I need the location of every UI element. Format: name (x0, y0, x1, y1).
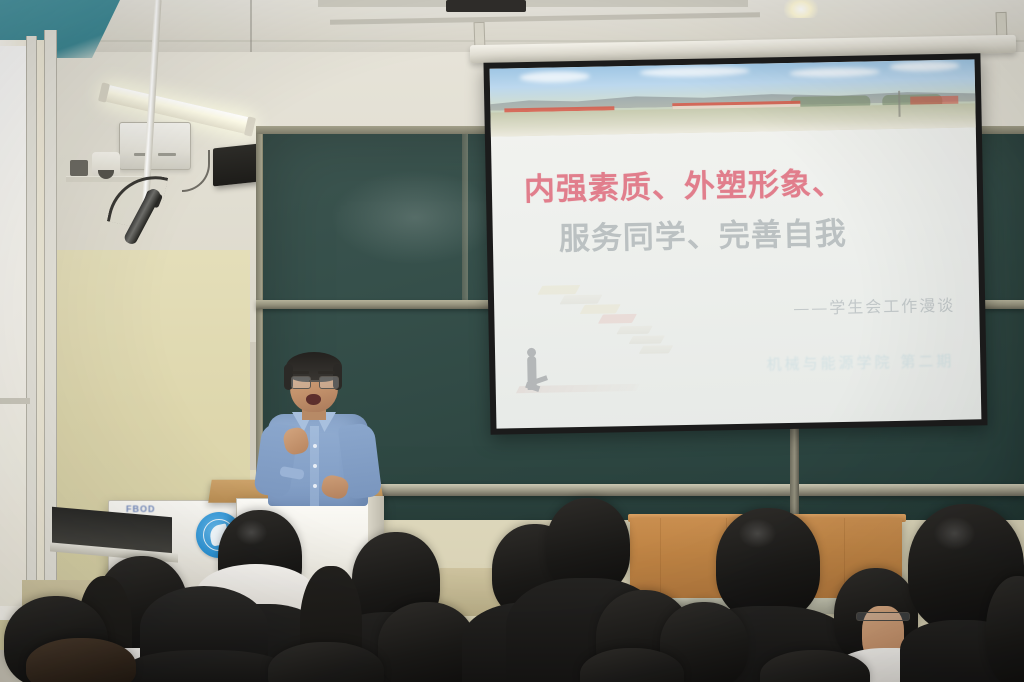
ceiling-light-glare (784, 0, 818, 18)
slide-title-line-2: 服务同学、完善自我 (558, 208, 847, 259)
projection-screen: 内强素质、外塑形象、 服务同学、完善自我 ——学生会工作漫谈 机械与能源学院 第… (483, 53, 987, 434)
wall-control-box (119, 122, 191, 170)
presenter (258, 352, 382, 500)
chalkboard-glare (330, 170, 500, 265)
slide-banner-photo (490, 59, 976, 136)
ceiling-fixture (446, 0, 526, 12)
audience-head (716, 508, 820, 620)
audience-glasses (856, 612, 910, 621)
wall-speaker (213, 144, 259, 187)
shelf-object (70, 160, 88, 176)
presenter-glasses (291, 376, 337, 387)
lecture-hall-photo: 内强素质、外塑形象、 服务同学、完善自我 ——学生会工作漫谈 机械与能源学院 第… (0, 0, 1024, 682)
audience-head (26, 638, 136, 682)
presenter-mouth (306, 394, 321, 405)
audience (0, 480, 1024, 682)
ceiling-conduit (318, 0, 748, 7)
slide-surface: 内强素质、外塑形象、 服务同学、完善自我 ——学生会工作漫谈 机械与能源学院 第… (490, 59, 982, 428)
slide-illustration (510, 277, 712, 411)
window-handle (0, 398, 30, 404)
audience-body (128, 650, 284, 682)
slide-subtitle: ——学生会工作漫谈 (793, 292, 955, 319)
slide-footer: 机械与能源学院 第二期 (766, 350, 954, 375)
chalkboard-panel-edge (462, 128, 468, 300)
slide-title-line-1: 内强素质、外塑形象、 (523, 158, 844, 209)
